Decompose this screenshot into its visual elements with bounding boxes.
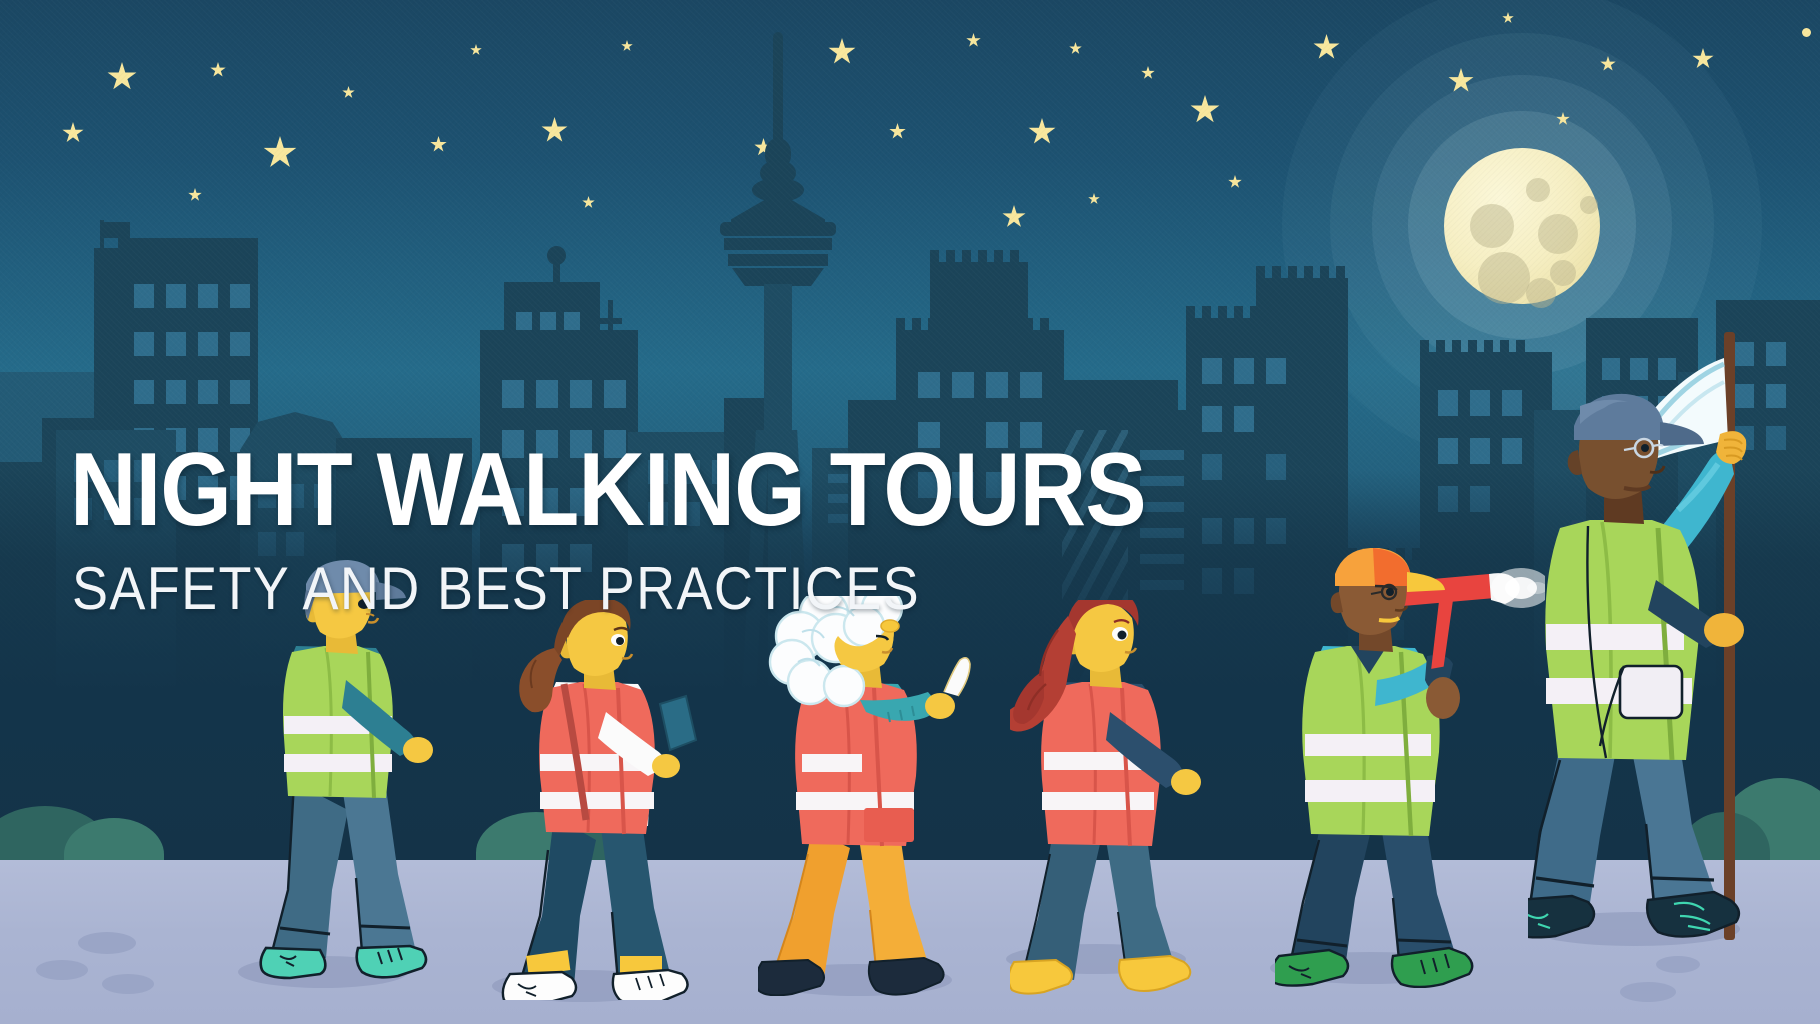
senior-walker (758, 596, 978, 996)
walker-with-flashlight (1275, 548, 1545, 988)
page-title: NIGHT WALKING TOURS (70, 440, 1146, 540)
poster-text-block: NIGHT WALKING TOURS SAFETY AND BEST PRAC… (70, 440, 1286, 618)
full-moon-icon (1444, 148, 1600, 304)
star-icon (1802, 28, 1811, 37)
walker-red-hair (1010, 600, 1220, 1000)
tour-guide-with-flag (1528, 330, 1818, 960)
walker-with-cap (250, 560, 440, 980)
poster-canvas: NIGHT WALKING TOURS SAFETY AND BEST PRAC… (0, 0, 1820, 1024)
walker-with-phone (500, 600, 700, 1000)
page-subtitle: SAFETY AND BEST PRACTICES (72, 560, 1164, 618)
